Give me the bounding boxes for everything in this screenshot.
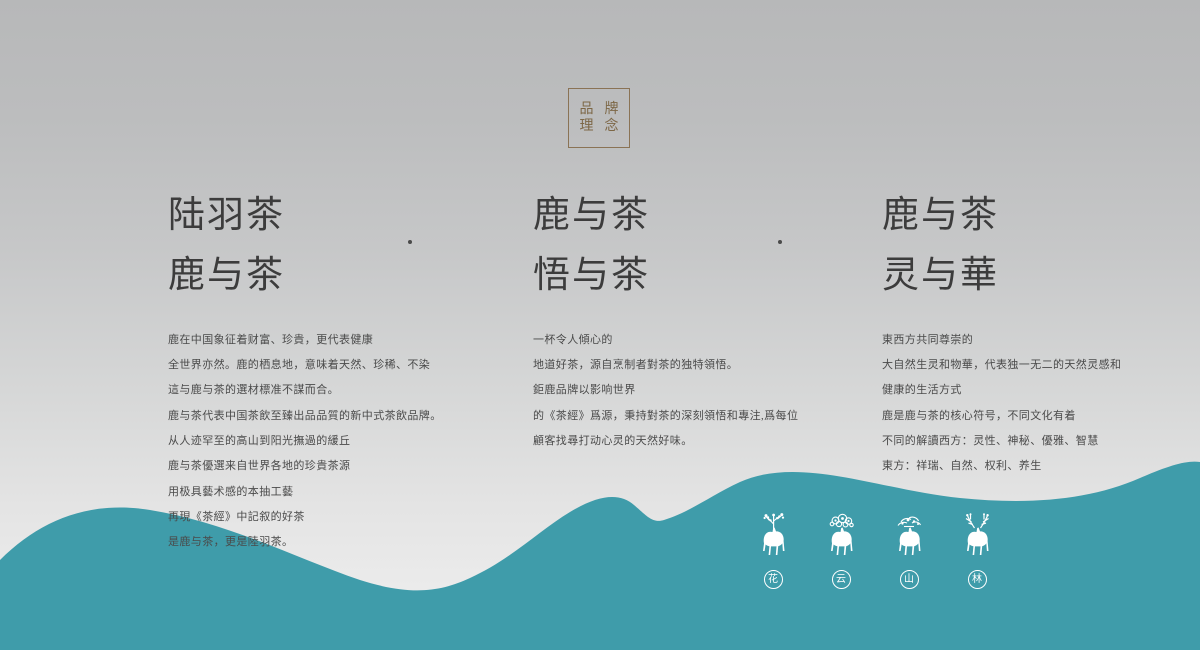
- column-2-heading-line-2: 悟与茶: [533, 246, 823, 306]
- philosophy-column-2: 鹿与茶 悟与茶 一杯令人傾心的 地道好茶，源自烹制者對茶的独特領悟。 鉅鹿品牌以…: [533, 186, 823, 454]
- body-line: 鹿在中国象征着财富、珍貴，更代表健康: [168, 328, 458, 353]
- badge-char-3: 理: [580, 120, 594, 134]
- badge-char-4: 念: [605, 120, 619, 134]
- body-line: 是鹿与茶，更是陸羽茶。: [168, 530, 458, 555]
- brand-philosophy-poster: 品 牌 理 念 陆羽茶 鹿与茶 鹿在中国象征着财富、珍貴，更代表健康 全世界亦然…: [0, 0, 1200, 650]
- column-2-heading-line-1: 鹿与茶: [533, 186, 823, 246]
- body-line: 全世界亦然。鹿的栖息地，意味着天然、珍稀、不染: [168, 353, 458, 378]
- deer-cloud-icon: [820, 512, 862, 564]
- body-line: 鹿是鹿与茶的核心符号，不同文化有着: [882, 404, 1182, 429]
- body-line: 一杯令人傾心的: [533, 328, 823, 353]
- body-line: 再現《茶經》中記叙的好茶: [168, 505, 458, 530]
- column-3-heading-line-2: 灵与華: [882, 246, 1182, 306]
- body-line: 从人迹罕至的高山到阳光撫過的緩丘: [168, 429, 458, 454]
- body-line: 大自然生灵和物華，代表独一无二的天然灵感和: [882, 353, 1182, 378]
- body-line: 東方：祥瑞、自然、权利、养生: [882, 454, 1182, 479]
- deer-label-hua: 花: [764, 570, 783, 589]
- column-1-heading-line-2: 鹿与茶: [168, 246, 458, 306]
- body-line: 的《茶經》爲源，秉持對茶的深刻領悟和專注,爲每位: [533, 404, 823, 429]
- philosophy-column-1: 陆羽茶 鹿与茶 鹿在中国象征着财富、珍貴，更代表健康 全世界亦然。鹿的栖息地，意…: [168, 186, 458, 556]
- deer-item-hua: 花: [752, 512, 794, 589]
- deer-item-shan: 山: [888, 512, 930, 589]
- deer-item-yun: 云: [820, 512, 862, 589]
- body-line: 鉅鹿品牌以影响世界: [533, 378, 823, 403]
- column-3-heading-line-1: 鹿与茶: [882, 186, 1182, 246]
- badge-char-2: 牌: [605, 103, 619, 117]
- deer-forest-branch-icon: [956, 512, 998, 564]
- body-line: 顧客找尋打动心灵的天然好味。: [533, 429, 823, 454]
- body-line: 鹿与茶代表中国茶飲至臻出品品質的新中式茶飲品牌。: [168, 404, 458, 429]
- deer-item-lin: 林: [956, 512, 998, 589]
- deer-label-shan: 山: [900, 570, 919, 589]
- body-line: 健康的生活方式: [882, 378, 1182, 403]
- deer-label-lin: 林: [968, 570, 987, 589]
- deer-icon-row: 花: [752, 512, 998, 589]
- body-line: 鹿与茶優選来自世界各地的珍貴茶源: [168, 454, 458, 479]
- badge-row-bottom: 理 念: [580, 120, 619, 134]
- brand-philosophy-badge: 品 牌 理 念: [568, 88, 630, 148]
- body-line: 地道好茶，源自烹制者對茶的独特領悟。: [533, 353, 823, 378]
- body-line: 這与鹿与茶的選材標准不謀而合。: [168, 378, 458, 403]
- body-line: 用极具藝术感的本抽工藝: [168, 480, 458, 505]
- column-1-heading-line-1: 陆羽茶: [168, 186, 458, 246]
- badge-row-top: 品 牌: [580, 103, 619, 117]
- body-line: 東西方共同尊崇的: [882, 328, 1182, 353]
- column-3-body: 東西方共同尊崇的 大自然生灵和物華，代表独一无二的天然灵感和 健康的生活方式 鹿…: [882, 328, 1182, 480]
- body-line: 不同的解讀西方：灵性、神秘、優雅、智慧: [882, 429, 1182, 454]
- deer-blossom-branch-icon: [752, 512, 794, 564]
- column-2-body: 一杯令人傾心的 地道好茶，源自烹制者對茶的独特領悟。 鉅鹿品牌以影响世界 的《茶…: [533, 328, 823, 454]
- deer-mountain-cloud-icon: [888, 512, 930, 564]
- badge-char-1: 品: [580, 103, 594, 117]
- column-1-body: 鹿在中国象征着财富、珍貴，更代表健康 全世界亦然。鹿的栖息地，意味着天然、珍稀、…: [168, 328, 458, 556]
- philosophy-column-3: 鹿与茶 灵与華 東西方共同尊崇的 大自然生灵和物華，代表独一无二的天然灵感和 健…: [882, 186, 1182, 480]
- deer-label-yun: 云: [832, 570, 851, 589]
